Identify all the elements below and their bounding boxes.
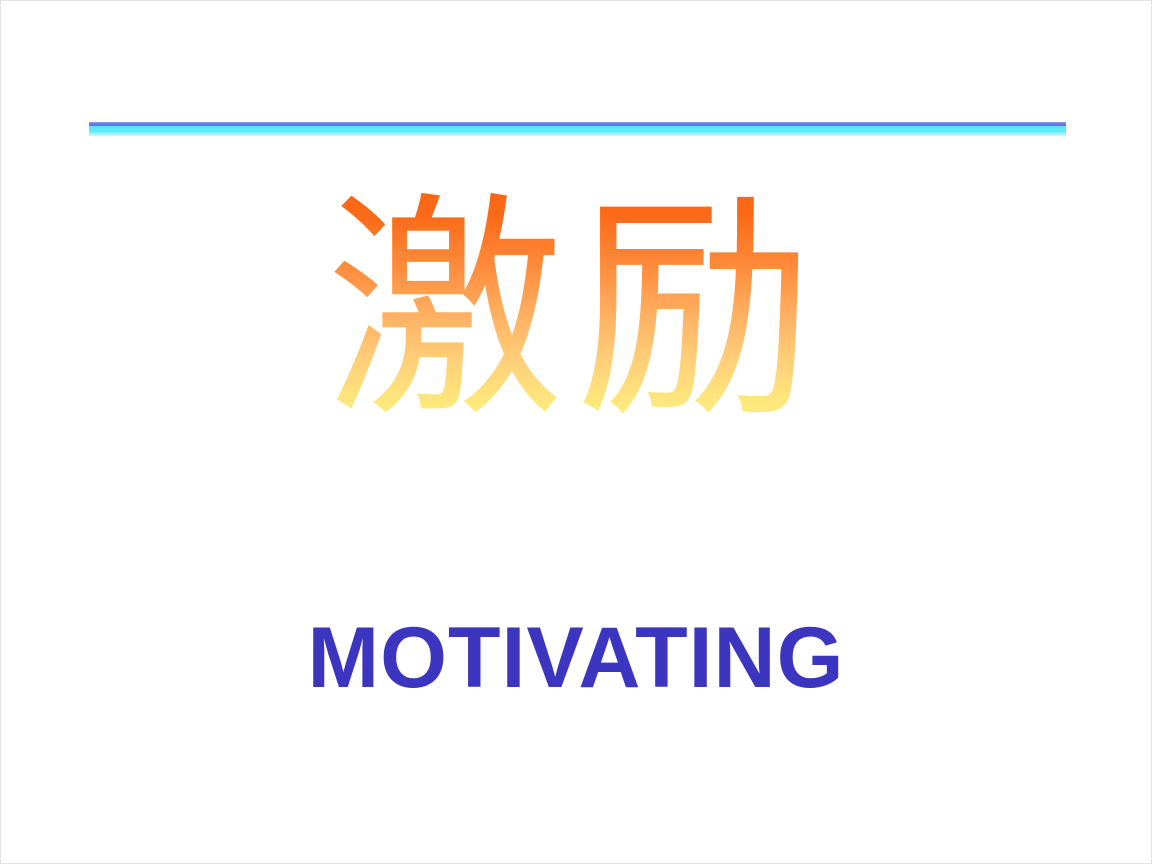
page-title-cjk: 激励 bbox=[1, 179, 1151, 446]
page-subtitle-english: MOTIVATING bbox=[1, 609, 1151, 708]
divider-band-cyan-light bbox=[89, 132, 1066, 136]
slide-canvas: 激励 MOTIVATING bbox=[0, 0, 1152, 864]
header-divider bbox=[89, 120, 1066, 136]
